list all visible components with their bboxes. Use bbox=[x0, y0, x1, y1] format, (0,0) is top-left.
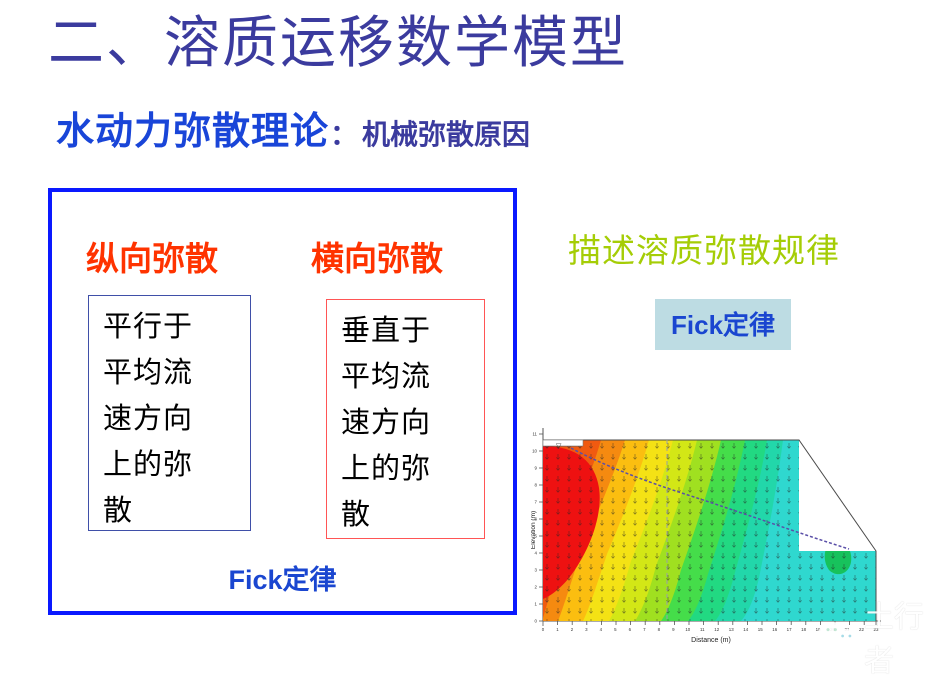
y-axis-label: Elevation (m) bbox=[531, 511, 537, 549]
transverse-definition-box: 垂直于 平均流 速方向 上的弥 散 bbox=[326, 299, 485, 539]
y-axis-ticks bbox=[539, 434, 543, 621]
y-tick-label: 2 bbox=[535, 585, 538, 590]
x-axis-label: Distance (m) bbox=[691, 637, 731, 644]
x-tick-label: 15 bbox=[758, 627, 763, 632]
longitudinal-definition-box: 平行于 平均流 速方向 上的弥 散 bbox=[88, 295, 251, 531]
x-tick-label: 4 bbox=[600, 627, 603, 632]
definition-line: 散 bbox=[341, 492, 484, 538]
water-table-marker: ▽ bbox=[556, 443, 562, 450]
x-tick-label: 3 bbox=[585, 627, 588, 632]
x-tick-label: 22 bbox=[859, 627, 864, 632]
y-tick-label: 7 bbox=[535, 500, 538, 505]
definition-line: 平均流 bbox=[103, 350, 250, 396]
x-tick-label: 20 bbox=[830, 627, 835, 632]
x-tick-label: 14 bbox=[743, 627, 748, 632]
definition-line: 平均流 bbox=[341, 354, 484, 400]
x-tick-label: 16 bbox=[772, 627, 777, 632]
dispersion-panel: 纵向弥散 横向弥散 平行于 平均流 速方向 上的弥 散 垂直于 平均流 速方向 … bbox=[48, 188, 517, 615]
y-tick-label: 8 bbox=[535, 483, 538, 488]
x-tick-label: 9 bbox=[672, 627, 675, 632]
x-tick-label: 1 bbox=[556, 627, 559, 632]
subtitle-colon: ： bbox=[330, 113, 358, 153]
x-axis-tick-labels: 01234567891011121314151617181920212223 bbox=[542, 627, 879, 632]
right-heading: 描述溶质弥散规律 bbox=[568, 224, 840, 272]
velocity-vector-field bbox=[543, 440, 879, 621]
y-tick-label: 1 bbox=[535, 602, 538, 607]
definition-line: 散 bbox=[103, 488, 250, 534]
y-tick-label: 0 bbox=[535, 619, 538, 624]
x-tick-label: 19 bbox=[816, 627, 821, 632]
column-heading-longitudinal: 纵向弥散 bbox=[86, 232, 218, 280]
x-tick-label: 2 bbox=[571, 627, 574, 632]
reservoir-surface bbox=[543, 440, 583, 446]
y-tick-label: 3 bbox=[535, 568, 538, 573]
subtitle-main-text: 水动力弥散理论 bbox=[56, 100, 329, 155]
x-tick-label: 7 bbox=[643, 627, 646, 632]
y-tick-label: 9 bbox=[535, 466, 538, 471]
y-tick-label: 11 bbox=[532, 432, 537, 437]
fick-law-latin: Fick bbox=[228, 565, 282, 595]
x-tick-label: 6 bbox=[629, 627, 632, 632]
slide-canvas: 二、溶质运移数学模型 水动力弥散理论 ： 机械弥散原因 纵向弥散 横向弥散 平行… bbox=[0, 0, 946, 656]
subtitle: 水动力弥散理论 ： 机械弥散原因 bbox=[56, 100, 530, 155]
definition-line: 上的弥 bbox=[103, 442, 250, 488]
column-heading-transverse: 横向弥散 bbox=[311, 232, 443, 280]
x-tick-label: 10 bbox=[685, 627, 690, 632]
fick-badge-latin: Fick bbox=[671, 310, 723, 340]
fick-law-caption: Fick定律 bbox=[52, 558, 513, 597]
definition-line: 速方向 bbox=[341, 400, 484, 446]
fick-badge-cn: 定律 bbox=[723, 311, 775, 340]
definition-line: 垂直于 bbox=[341, 308, 484, 354]
page-title: 二、溶质运移数学模型 bbox=[48, 10, 628, 78]
x-tick-label: 13 bbox=[729, 627, 734, 632]
x-tick-label: 8 bbox=[658, 627, 661, 632]
x-tick-label: 18 bbox=[801, 627, 806, 632]
fick-law-badge: Fick定律 bbox=[655, 299, 791, 350]
fick-law-cn: 定律 bbox=[283, 565, 337, 595]
x-tick-label: 5 bbox=[614, 627, 617, 632]
x-tick-label: 23 bbox=[874, 627, 879, 632]
definition-line: 平行于 bbox=[103, 304, 250, 350]
definition-line: 速方向 bbox=[103, 396, 250, 442]
x-tick-label: 17 bbox=[787, 627, 792, 632]
x-axis-ticks bbox=[543, 621, 876, 626]
x-tick-label: 12 bbox=[714, 627, 719, 632]
subtitle-sub-text: 机械弥散原因 bbox=[362, 113, 530, 153]
x-tick-label: 0 bbox=[542, 627, 545, 632]
x-tick-label: 11 bbox=[700, 627, 705, 632]
definition-line: 上的弥 bbox=[341, 446, 484, 492]
seepage-contour-figure: ▽ 01234567891011121314151617181920 bbox=[531, 418, 889, 648]
x-tick-label: 21 bbox=[845, 627, 850, 632]
y-tick-label: 4 bbox=[535, 551, 538, 556]
y-tick-label: 10 bbox=[532, 449, 537, 454]
